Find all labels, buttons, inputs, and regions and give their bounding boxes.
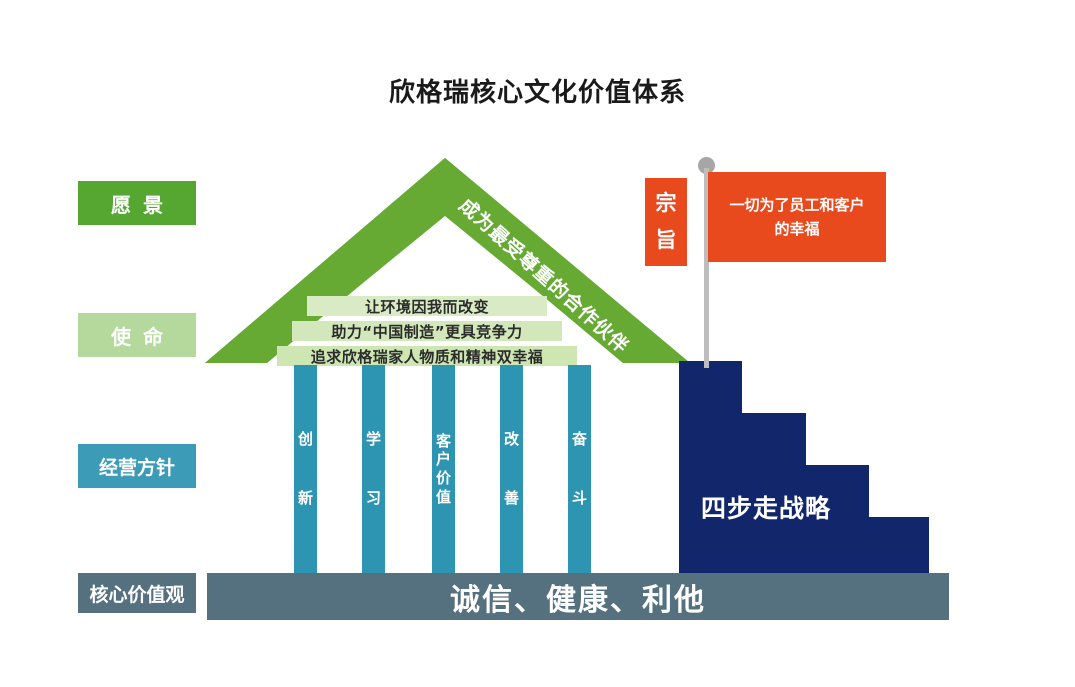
pillar-learning: 学 习: [362, 365, 385, 573]
pillar-innovation: 创 新: [294, 365, 317, 573]
culture-value-diagram: 欣格瑞核心文化价值体系 愿景 使命 经营方针 核心价值观 成为奋斗者的幸福家园 …: [0, 0, 1075, 687]
flag-line-1: 一切为了员工和客户: [729, 193, 864, 217]
four-step-strategy-stairs: [679, 361, 929, 573]
pillar-char: 斗: [572, 489, 587, 508]
pillar-char: 习: [366, 489, 381, 508]
purpose-flag: 一切为了员工和客户 的幸福: [708, 172, 886, 262]
pillar-improvement: 改 善: [500, 365, 523, 573]
category-label-vision: 愿景: [78, 181, 196, 225]
pillar-char: 改: [504, 430, 519, 449]
category-label-policy: 经营方针: [78, 444, 196, 488]
pillar-char: 新: [298, 489, 313, 508]
foundation-core-values: 诚信、健康、利他: [207, 573, 949, 620]
flag-line-2: 的幸福: [729, 217, 864, 241]
category-label-values: 核心价值观: [78, 573, 196, 613]
pillar-char: 善: [504, 489, 519, 508]
pillar-char: 价: [436, 469, 451, 488]
stairs-shape: [679, 361, 929, 573]
strategy-label: 四步走战略: [701, 489, 831, 525]
mission-bar-2: 助力“中国制造”更具竞争力: [292, 321, 562, 341]
purpose-label: 宗 旨: [645, 178, 687, 266]
pillar-char: 户: [436, 450, 451, 469]
pillar-striving: 奋 斗: [568, 365, 591, 573]
purpose-char-1: 宗: [656, 193, 677, 214]
pillar-char: 学: [366, 430, 381, 449]
category-label-mission: 使命: [78, 313, 196, 357]
pillar-char: 客: [436, 432, 451, 451]
pillar-customer-value: 客 户 价 值: [432, 365, 455, 573]
mission-bar-1: 让环境因我而改变: [307, 296, 547, 316]
mission-bar-3: 追求欣格瑞家人物质和精神双幸福: [277, 346, 577, 366]
purpose-char-2: 旨: [656, 230, 677, 251]
page-title: 欣格瑞核心文化价值体系: [0, 72, 1075, 109]
pillar-char: 值: [436, 488, 451, 507]
pillar-char: 奋: [572, 430, 587, 449]
pillar-char: 创: [298, 430, 313, 449]
